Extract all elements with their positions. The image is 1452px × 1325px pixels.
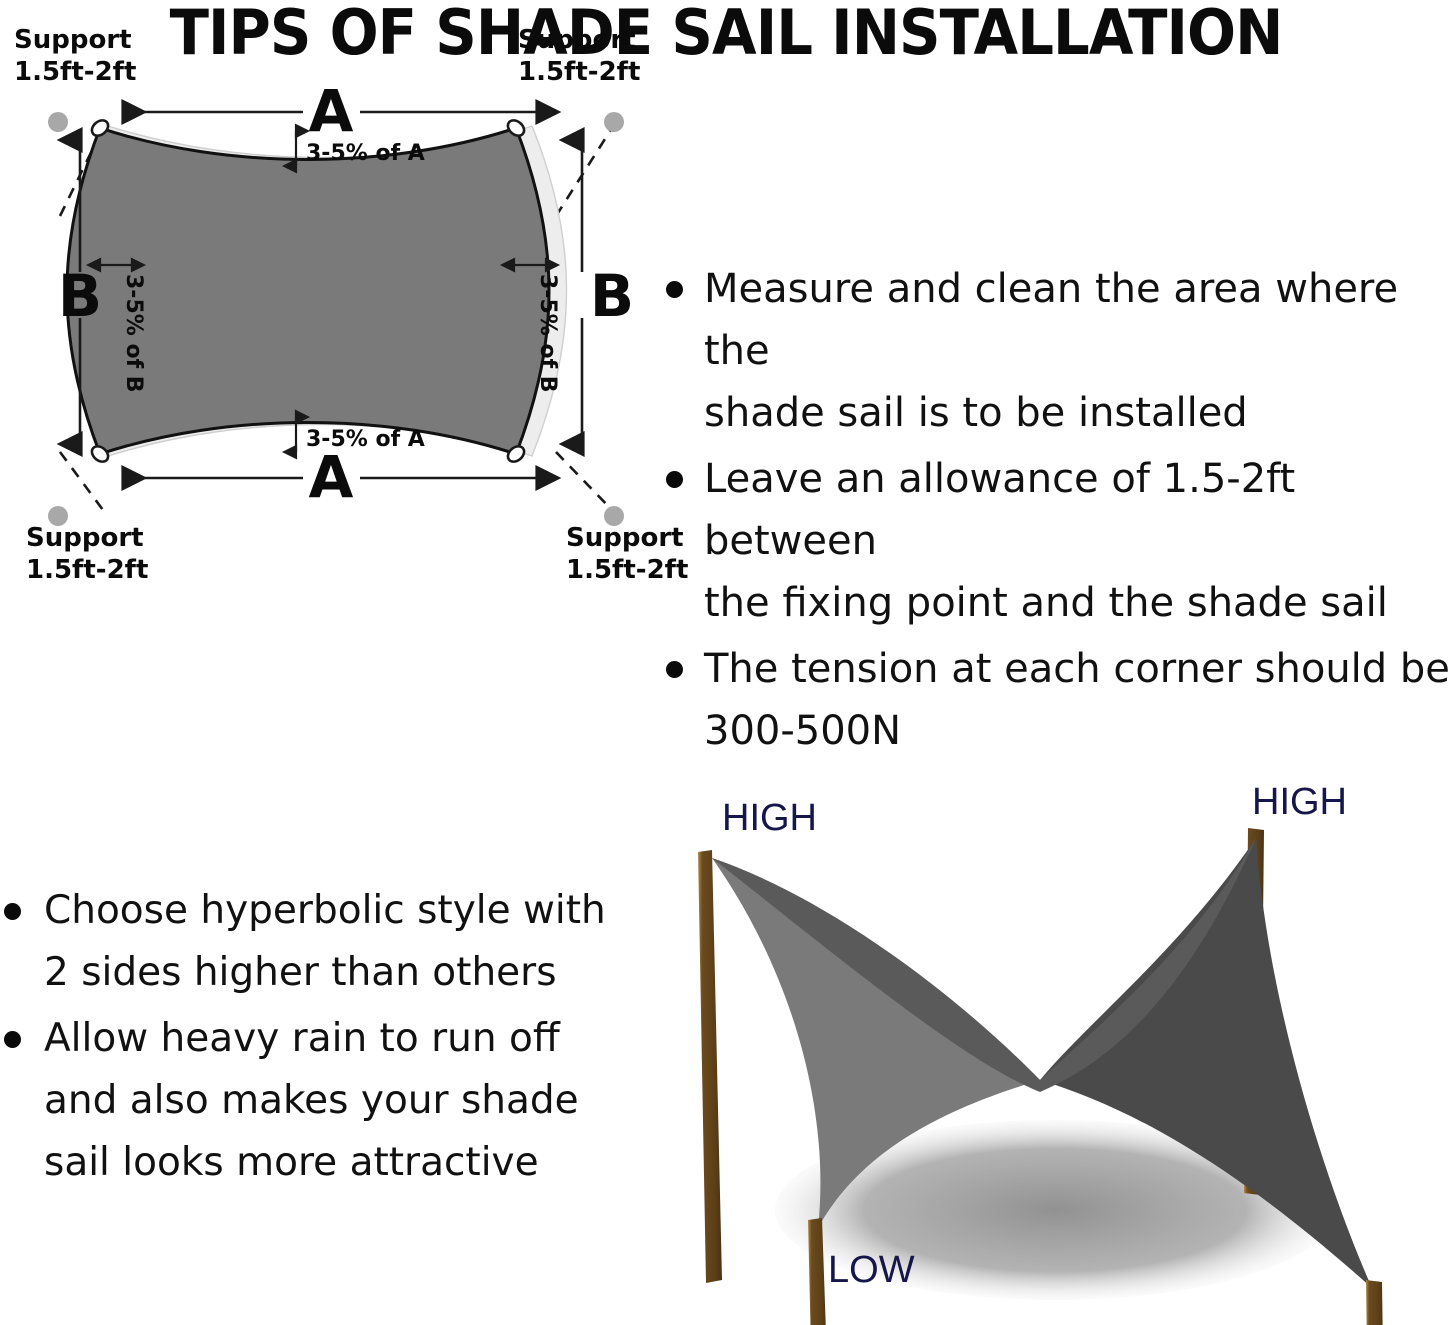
bullet-dot-icon bbox=[666, 661, 683, 678]
label-low-bottom-left: LOW bbox=[828, 1249, 915, 1291]
list-item: Allow heavy rain to run off and also mak… bbox=[0, 1008, 640, 1194]
support-dot-top-left bbox=[48, 112, 68, 132]
rectangular-sail-diagram: A 3-5% of A 3-5% of A A B bbox=[0, 0, 660, 600]
tip-line: Leave an allowance of 1.5-2ft between bbox=[704, 448, 1452, 572]
guy-line-top-right bbox=[556, 128, 612, 216]
tip-line: Allow heavy rain to run off bbox=[44, 1008, 640, 1070]
label-high-top-left: HIGH bbox=[722, 797, 817, 839]
support-label-top-right-line2: 1.5ft-2ft bbox=[518, 57, 640, 87]
tip-line: the fixing point and the shade sail bbox=[704, 572, 1452, 634]
list-item: Choose hyperbolic style with 2 sides hig… bbox=[0, 880, 640, 1004]
list-item: Measure and clean the area where the sha… bbox=[648, 258, 1452, 444]
tip-line: and also makes your shade bbox=[44, 1070, 640, 1132]
support-label-top-left: Support 1.5ft-2ft bbox=[14, 25, 136, 87]
pole-front-right bbox=[1366, 1280, 1384, 1325]
tip-line: The tension at each corner should be bbox=[704, 638, 1452, 700]
support-label-bottom-left: Support 1.5ft-2ft bbox=[26, 523, 148, 585]
support-label-bottom-left-line1: Support bbox=[26, 523, 144, 553]
bullet-dot-icon bbox=[666, 281, 683, 298]
label-high-top-right: HIGH bbox=[1252, 781, 1347, 823]
pole-back-left bbox=[698, 850, 722, 1283]
tip-line: 300-500N bbox=[704, 700, 1452, 762]
tip-line: 2 sides higher than others bbox=[44, 942, 640, 1004]
infographic-page: TIPS OF SHADE SAIL INSTALLATION bbox=[0, 0, 1452, 1325]
support-label-top-left-line2: 1.5ft-2ft bbox=[14, 57, 136, 87]
dimension-b-left-label: B bbox=[58, 262, 102, 330]
tip-line: shade sail is to be installed bbox=[704, 382, 1452, 444]
bullet-dot-icon bbox=[4, 1031, 21, 1048]
tip-line: Choose hyperbolic style with bbox=[44, 880, 640, 942]
curve-a-top-label: 3-5% of A bbox=[306, 141, 425, 166]
list-item: The tension at each corner should be 300… bbox=[648, 638, 1452, 762]
guy-line-bottom-right bbox=[556, 452, 612, 510]
tip-line: Measure and clean the area where the bbox=[704, 258, 1452, 382]
hyperbolic-sail-illustration: HIGH HIGH LOW LOW bbox=[660, 780, 1452, 1325]
support-label-top-left-line1: Support bbox=[14, 25, 132, 55]
support-label-top-right: Support 1.5ft-2ft bbox=[518, 25, 640, 87]
dimension-b-right-label: B bbox=[590, 262, 634, 330]
bullet-dot-icon bbox=[666, 471, 683, 488]
list-item: Leave an allowance of 1.5-2ft between th… bbox=[648, 448, 1452, 634]
support-label-bottom-left-line2: 1.5ft-2ft bbox=[26, 555, 148, 585]
tip-line: sail looks more attractive bbox=[44, 1132, 640, 1194]
installation-tips-left: Choose hyperbolic style with 2 sides hig… bbox=[0, 880, 640, 1240]
dimension-a-top-label: A bbox=[309, 77, 354, 145]
curve-b-right-label: 3-5% of B bbox=[535, 274, 560, 393]
curve-b-left-label: 3-5% of B bbox=[121, 274, 146, 393]
installation-tips-right: Measure and clean the area where the sha… bbox=[648, 258, 1452, 678]
bullet-dot-icon bbox=[4, 903, 21, 920]
tips-left-list: Choose hyperbolic style with 2 sides hig… bbox=[0, 880, 640, 1194]
support-label-top-right-line1: Support bbox=[518, 25, 636, 55]
tips-right-list: Measure and clean the area where the sha… bbox=[648, 258, 1452, 762]
support-dot-top-right bbox=[604, 112, 624, 132]
dimension-a-bottom-label: A bbox=[309, 443, 354, 511]
